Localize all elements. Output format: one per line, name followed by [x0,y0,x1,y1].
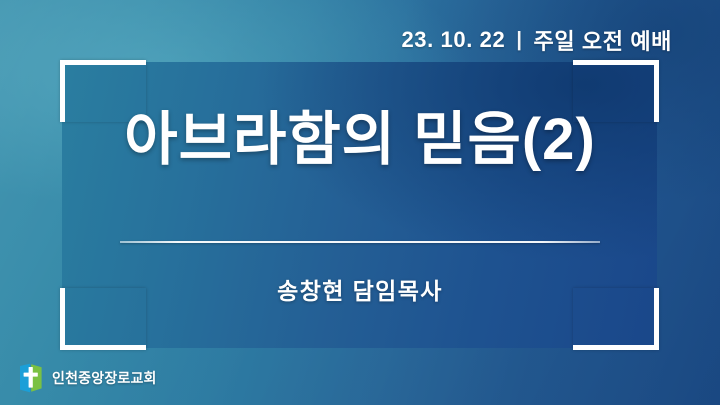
header-meta: 23. 10. 22 | 주일 오전 예배 [401,24,672,56]
header-separator: | [516,29,522,52]
title-divider [120,241,600,243]
church-name: 인천중앙장로교회 [52,368,157,388]
open-door-cross-icon [18,363,44,393]
service-date: 23. 10. 22 [401,27,505,53]
sermon-title: 아브라함의 믿음(2) [0,110,720,171]
church-logo: 인천중앙장로교회 [18,363,157,393]
speaker-name: 송창현 담임목사 [0,272,720,306]
sermon-title-slide: 23. 10. 22 | 주일 오전 예배 아브라함의 믿음(2) 송창현 담임… [0,0,720,405]
service-name: 주일 오전 예배 [534,24,672,56]
